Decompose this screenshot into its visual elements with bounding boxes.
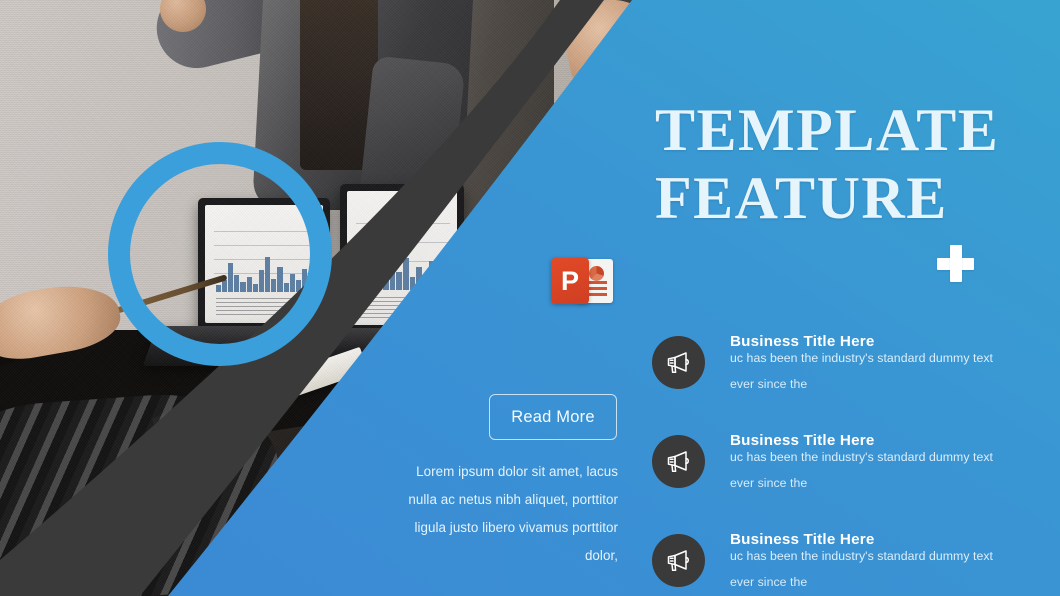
feature-title: Business Title Here <box>730 333 1044 350</box>
feature-description-line2: ever since the <box>730 576 1044 588</box>
powerpoint-letter: P <box>551 258 589 304</box>
plus-icon <box>937 245 974 282</box>
feature-description-line1: uc has been the industry's standard dumm… <box>730 451 1044 463</box>
megaphone-icon <box>652 435 705 488</box>
page-title: TEMPLATE FEATURE <box>655 96 1045 233</box>
feature-list: Business Title Here uc has been the indu… <box>652 333 1044 596</box>
feature-title: Business Title Here <box>730 432 1044 449</box>
read-more-button[interactable]: Read More <box>489 394 617 440</box>
feature-description-line2: ever since the <box>730 378 1044 390</box>
powerpoint-pie-chart <box>589 266 604 281</box>
powerpoint-logo: P <box>551 258 613 304</box>
feature-item[interactable]: Business Title Here uc has been the indu… <box>652 333 1044 409</box>
feature-title: Business Title Here <box>730 531 1044 548</box>
feature-item[interactable]: Business Title Here uc has been the indu… <box>652 432 1044 508</box>
feature-description-line2: ever since the <box>730 477 1044 489</box>
intro-paragraph: Lorem ipsum dolor sit amet, lacus nulla … <box>400 458 618 570</box>
feature-item[interactable]: Business Title Here uc has been the indu… <box>652 531 1044 596</box>
feature-description-line1: uc has been the industry's standard dumm… <box>730 352 1044 364</box>
powerpoint-letter-block: P <box>551 258 589 304</box>
decorative-ring-icon <box>108 142 332 366</box>
feature-description-line1: uc has been the industry's standard dumm… <box>730 550 1044 562</box>
megaphone-icon <box>652 534 705 587</box>
presentation-slide: TEMPLATE FEATURE P Read More Lorem ipsum… <box>0 0 1060 596</box>
megaphone-icon <box>652 336 705 389</box>
